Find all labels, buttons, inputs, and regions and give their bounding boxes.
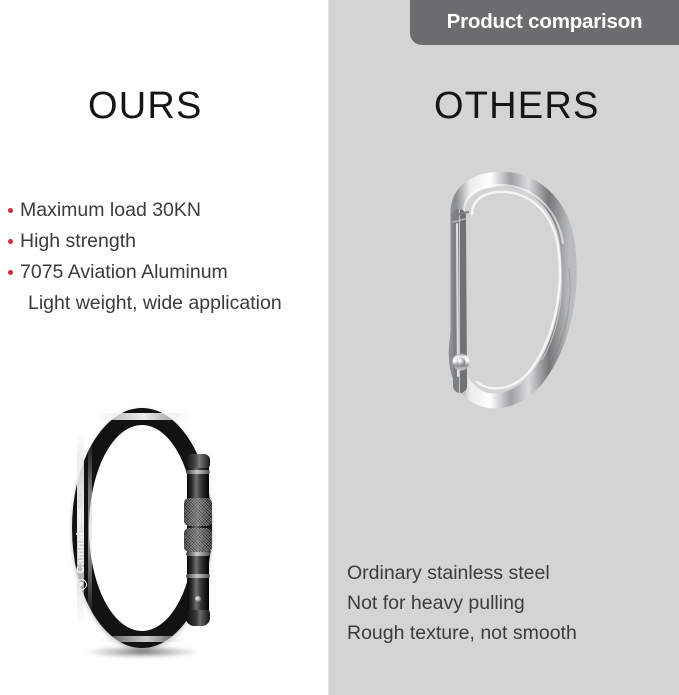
frame-highlight-top xyxy=(94,413,190,420)
frame-highlight-bottom xyxy=(98,636,186,642)
product-comparison-banner: Product comparison xyxy=(410,0,679,45)
silver-carabiner-svg xyxy=(428,172,588,422)
bullet-dot-icon xyxy=(8,239,13,244)
ours-feature-list: Maximum load 30KN High strength 7075 Avi… xyxy=(8,196,328,318)
feature-label: 7075 Aviation Aluminum xyxy=(20,258,228,287)
list-item: Rough texture, not smooth xyxy=(347,618,577,648)
panel-divider xyxy=(328,0,329,695)
knurled-sleeve-band xyxy=(184,528,212,552)
gate-bottom-cap xyxy=(186,610,210,626)
gate-highlight xyxy=(457,224,458,376)
silver-spring-gate-carabiner-image xyxy=(428,172,588,422)
list-item: Not for heavy pulling xyxy=(347,588,577,618)
others-heading: OTHERS xyxy=(434,85,600,128)
bullet-dot-icon xyxy=(8,270,13,275)
feature-sublabel: Light weight, wide application xyxy=(28,289,328,318)
feature-label: Maximum load 30KN xyxy=(20,196,201,225)
banner-label: Product comparison xyxy=(447,10,643,34)
gate-ring xyxy=(186,470,210,474)
black-screw-lock-carabiner-image: 30KN Camnal xyxy=(72,408,212,656)
knurled-sleeve-band xyxy=(184,498,212,526)
gate-top-cap xyxy=(186,454,210,468)
list-item: High strength xyxy=(8,227,328,256)
others-drawback-list: Ordinary stainless steel Not for heavy p… xyxy=(347,558,577,648)
gate-ring xyxy=(186,552,210,556)
rivet-glint xyxy=(458,359,461,362)
feature-label: High strength xyxy=(20,227,136,256)
frame-highlight-inner xyxy=(88,438,92,618)
list-item: Ordinary stainless steel xyxy=(347,558,577,588)
product-comparison-image: Product comparison OURS OTHERS Maximum l… xyxy=(0,0,679,695)
gate-rivet-pin-icon xyxy=(195,596,201,602)
ours-heading: OURS xyxy=(88,85,203,128)
gate-ring xyxy=(186,574,210,578)
list-item: Maximum load 30KN xyxy=(8,196,328,225)
list-item: 7075 Aviation Aluminum xyxy=(8,258,328,287)
screw-lock-gate xyxy=(183,454,213,624)
bullet-dot-icon xyxy=(8,208,13,213)
frame-highlight-left xyxy=(77,430,84,626)
gate-rivet-pin-icon xyxy=(456,357,465,366)
